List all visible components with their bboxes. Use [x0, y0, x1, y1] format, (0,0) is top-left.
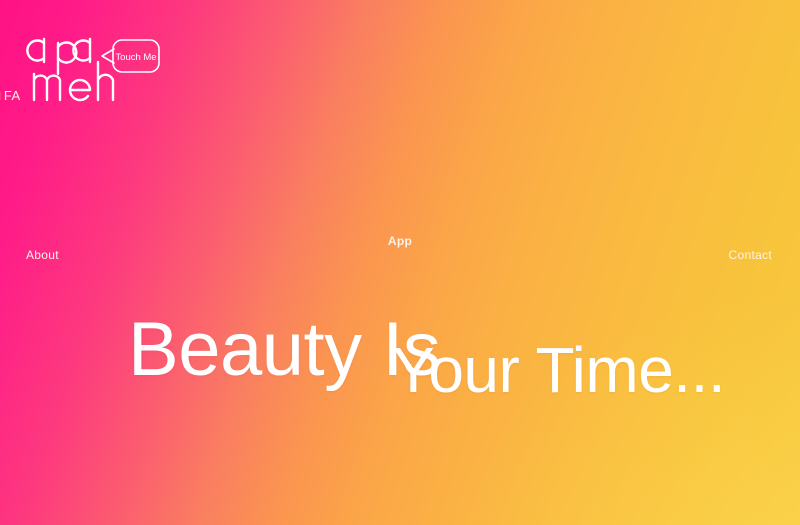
language-switcher[interactable]: EN FA: [0, 87, 782, 104]
nav-link-app[interactable]: App: [388, 235, 412, 247]
hero-heading: Beauty Is Your Time...: [0, 312, 800, 442]
hero-line-secondary: Your Time...: [392, 338, 725, 402]
lang-option-fa[interactable]: FA: [3, 87, 22, 104]
bottom-navigation: About App Contact: [0, 227, 800, 275]
nav-link-about[interactable]: About: [26, 249, 59, 261]
landing-page: Touch Me EN FA Beauty Is Your Time... Ab…: [0, 0, 800, 525]
nav-link-contact[interactable]: Contact: [729, 249, 772, 261]
